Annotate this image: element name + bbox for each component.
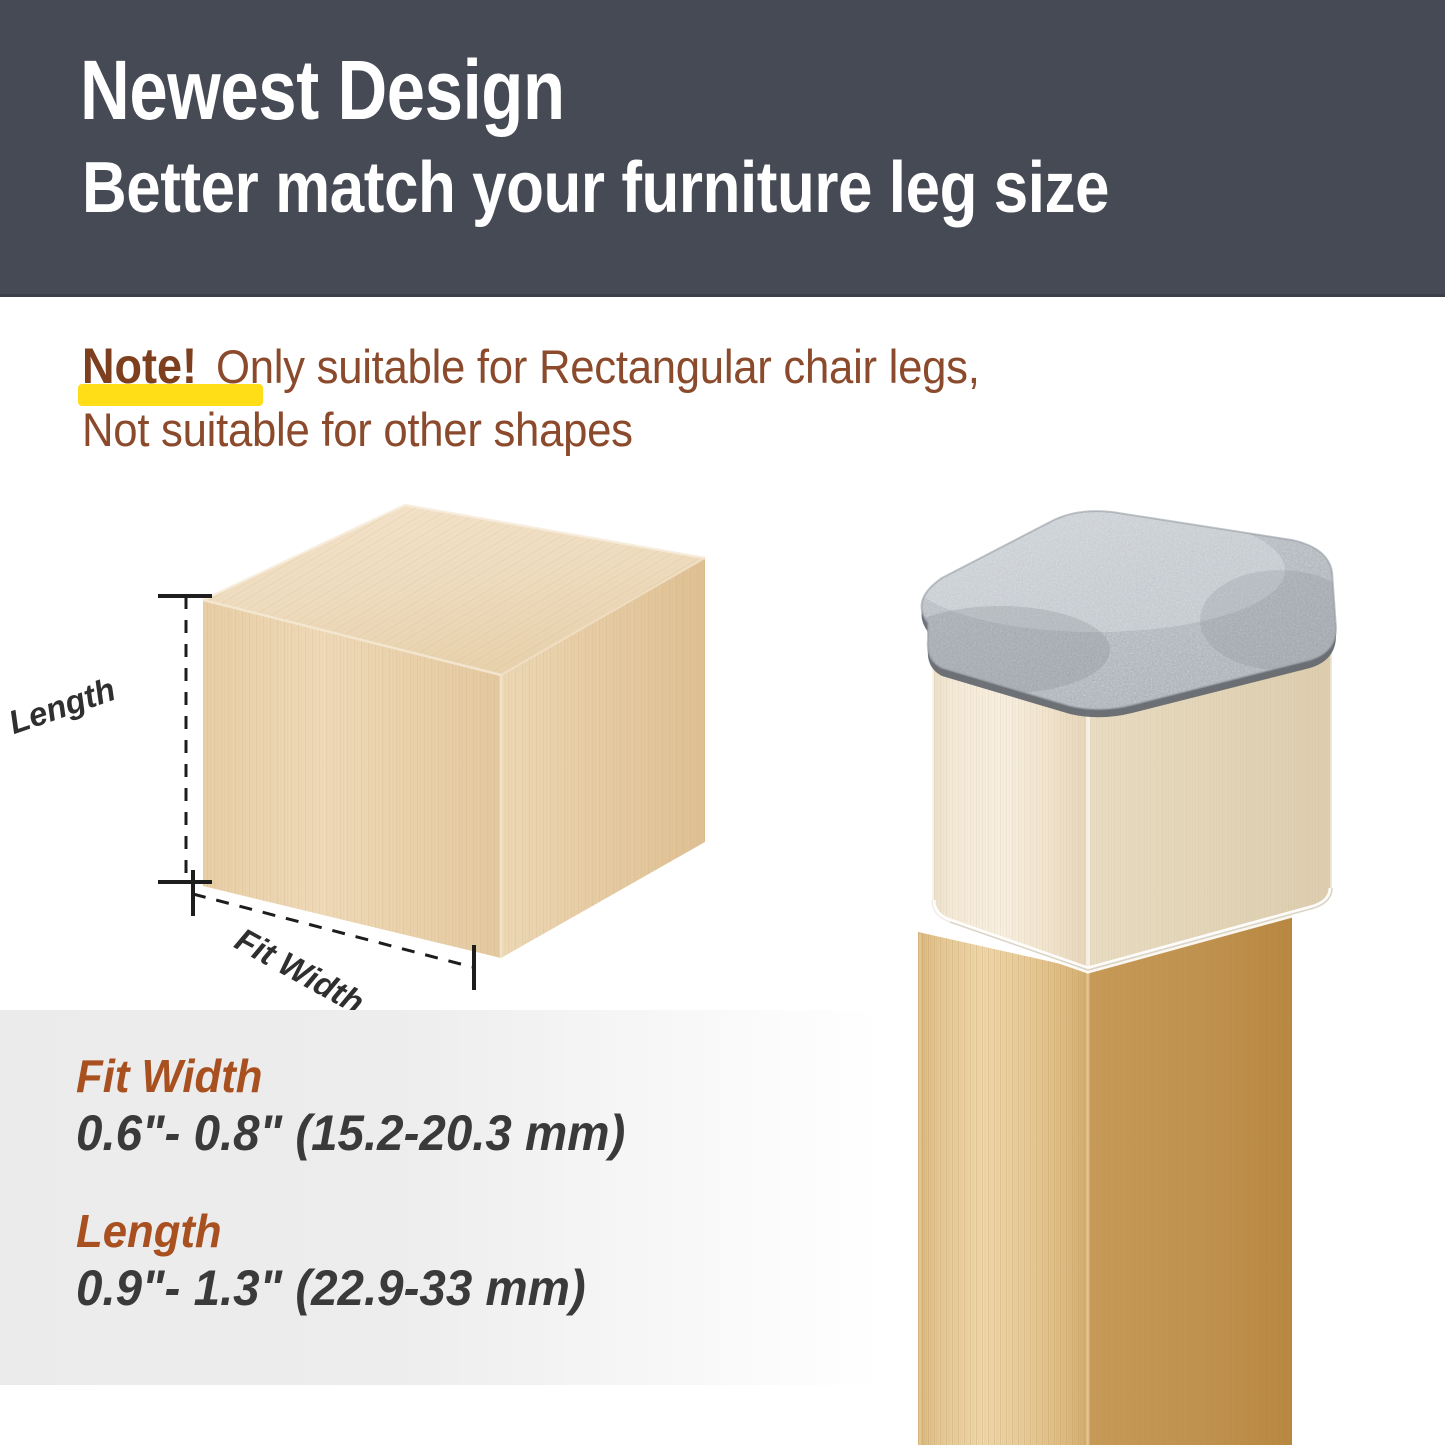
spec-value-length: 0.9"- 1.3" (22.9-33 mm): [76, 1261, 586, 1316]
spec-label-length: Length: [76, 1207, 586, 1255]
spec-label-fit-width: Fit Width: [76, 1052, 625, 1100]
chair-leg-illustration: [880, 500, 1350, 1445]
note-text-line-2: Not suitable for other shapes: [82, 404, 633, 457]
chair-leg-product-photo: [880, 500, 1350, 1445]
note-line-2: Not suitable for other shapes: [82, 394, 1342, 457]
spec-item-fit-width: Fit Width 0.6"- 0.8" (15.2-20.3 mm): [76, 1052, 654, 1161]
spec-item-length: Length 0.9"- 1.3" (22.9-33 mm): [76, 1207, 613, 1316]
note-text-line-1: Only suitable for Rectangular chair legs…: [216, 341, 980, 394]
wood-block-diagram: [60, 490, 760, 1010]
spec-value-fit-width: 0.6"- 0.8" (15.2-20.3 mm): [76, 1106, 625, 1161]
specifications-panel: Fit Width 0.6"- 0.8" (15.2-20.3 mm) Leng…: [0, 1010, 880, 1385]
note-block: Note!Only suitable for Rectangular chair…: [82, 338, 1342, 457]
note-line-1: Note!Only suitable for Rectangular chair…: [82, 338, 1342, 394]
page-title: Newest Design: [80, 48, 565, 132]
note-badge: Note!: [82, 338, 202, 394]
wood-block-illustration: [60, 490, 760, 1010]
leg-lower-exposed: [918, 904, 1292, 1445]
page-subtitle: Better match your furniture leg size: [82, 152, 1109, 224]
header-banner: Newest Design Better match your furnitur…: [0, 0, 1445, 297]
